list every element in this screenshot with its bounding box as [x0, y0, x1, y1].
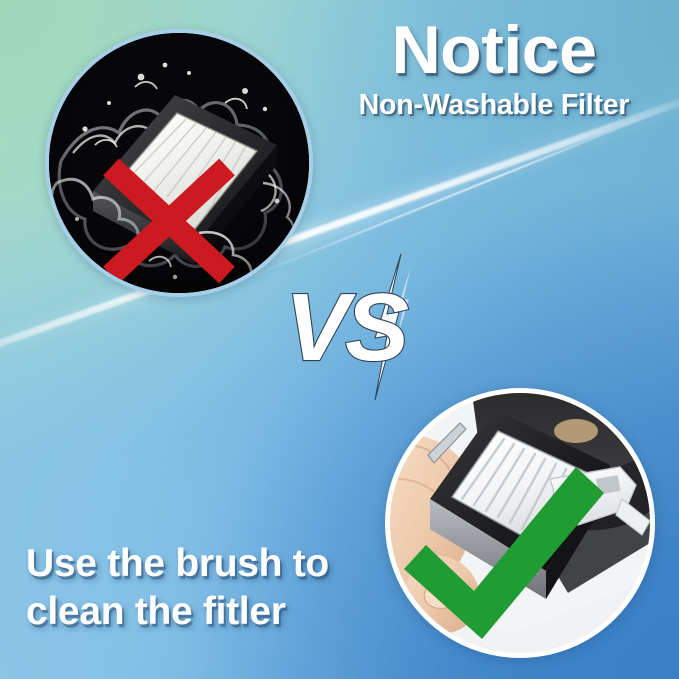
page-subtitle: Non-Washable Filter	[318, 89, 670, 122]
photo-hand-brushing-filter	[390, 393, 650, 653]
instruction-caption-line2: clean the fitler	[26, 588, 366, 636]
panel-brush-clean-filter	[385, 388, 655, 658]
vs-label: VS	[285, 274, 409, 381]
photo-filter-water-splash	[49, 33, 309, 293]
heading-block: Notice Non-Washable Filter	[318, 16, 670, 122]
instruction-caption-line1: Use the brush to	[26, 540, 366, 588]
product-infographic: VS Notice Non-Washable Filter Use the br…	[0, 0, 679, 679]
panel-do-not-wash-filter	[45, 29, 313, 297]
instruction-caption: Use the brush to clean the fitler	[26, 540, 366, 635]
page-title: Notice	[318, 16, 670, 85]
vs-divider: VS	[283, 272, 443, 387]
